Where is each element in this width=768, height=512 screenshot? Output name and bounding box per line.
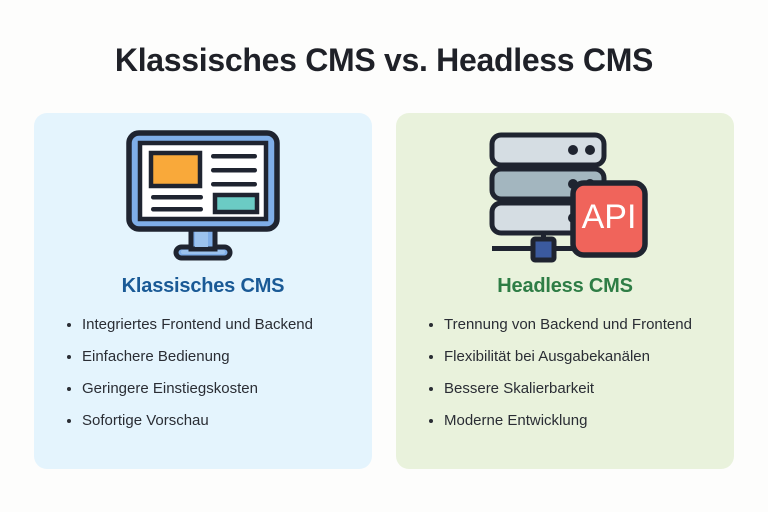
monitor-icon xyxy=(123,125,283,269)
list-item: Integriertes Frontend und Backend xyxy=(67,316,372,334)
server-api-icon-wrap: API xyxy=(396,113,734,273)
infographic-page: Klassisches CMS vs. Headless CMS xyxy=(0,0,768,512)
server-api-icon: API xyxy=(480,125,650,269)
api-label: API xyxy=(582,198,637,236)
feature-list-headless: Trennung von Backend und Frontend Flexib… xyxy=(396,316,734,430)
card-headless-cms: API Headless CMS Trennung von Backend un… xyxy=(396,113,734,469)
list-item: Geringere Einstiegskosten xyxy=(67,380,372,398)
monitor-icon-wrap xyxy=(34,113,372,273)
feature-list-classic: Integriertes Frontend und Backend Einfac… xyxy=(34,316,372,430)
list-item: Einfachere Bedienung xyxy=(67,348,372,366)
list-item: Trennung von Backend und Frontend xyxy=(429,316,734,334)
list-item: Bessere Skalierbarkeit xyxy=(429,380,734,398)
comparison-cards: Klassisches CMS Integriertes Frontend un… xyxy=(34,113,734,469)
card-classic-cms: Klassisches CMS Integriertes Frontend un… xyxy=(34,113,372,469)
list-item: Flexibilität bei Ausgabekanälen xyxy=(429,348,734,366)
page-title: Klassisches CMS vs. Headless CMS xyxy=(0,42,768,79)
list-item: Sofortige Vorschau xyxy=(67,412,372,430)
list-item: Moderne Entwicklung xyxy=(429,412,734,430)
card-heading-headless: Headless CMS xyxy=(396,275,734,298)
card-heading-classic: Klassisches CMS xyxy=(34,275,372,298)
